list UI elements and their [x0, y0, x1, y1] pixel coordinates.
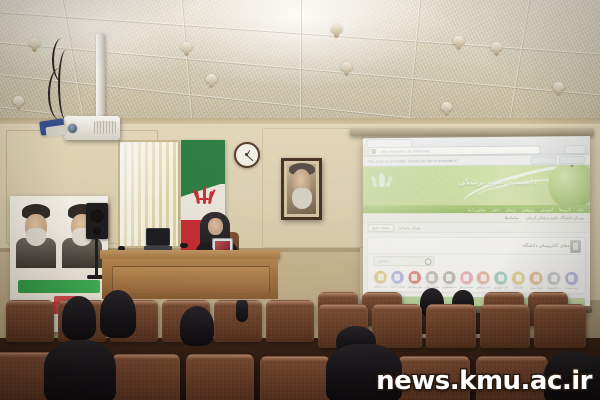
- system-icon-label: سامانه درمان: [459, 286, 474, 290]
- seated-attendee: [44, 340, 116, 400]
- breadcrumb-pill[interactable]: سامانه جامع: [368, 223, 395, 231]
- pa-speaker: [86, 203, 108, 239]
- system-icon-label: سامانه آموزش: [494, 286, 509, 290]
- breadcrumb[interactable]: سامانه جامع پورتال سازمانی: [363, 223, 590, 233]
- site-brand-title: دانشگاه علوم پزشکی: [458, 176, 537, 187]
- system-icon-research[interactable]: سامانه پژوهش: [476, 271, 491, 289]
- watermark: news.kmu.ac.ir: [376, 366, 592, 396]
- framed-portrait: [281, 158, 322, 220]
- seated-attendee: [236, 300, 248, 322]
- site-main-nav[interactable]: خانه گروه‌ها آموزش پژوهش درمان اخبار تما…: [363, 205, 590, 213]
- system-icon-label: سامانه پژوهش: [476, 286, 491, 290]
- nav-item[interactable]: اخبار: [492, 207, 500, 212]
- nav-item[interactable]: پژوهش: [522, 207, 535, 212]
- browser-address-bar[interactable]: http://www.kmu.ac.ir/fa/home: [369, 145, 541, 155]
- speaker-desk: [100, 250, 280, 259]
- projector-vent: [94, 121, 116, 134]
- logo-caption: کرمان: [365, 182, 403, 187]
- projector-mount-pole: [96, 34, 105, 126]
- breadcrumb-label: پورتال سازمانی: [398, 225, 420, 229]
- seat: [426, 304, 476, 348]
- green-apple-hero: [548, 165, 590, 205]
- ceiling-downlight: [180, 42, 193, 57]
- ceiling-downlight: [490, 42, 503, 57]
- systems-panel: سامانه‌های الکترونیکی دانشگاه جستجو ... …: [367, 237, 586, 294]
- ceiling-downlight: [330, 24, 343, 39]
- projection-screen: http://www.kmu.ac.ir/fa/home This page i…: [363, 136, 590, 310]
- speaker-stand: [95, 239, 98, 277]
- seat: [6, 300, 54, 342]
- system-icon-label: اتوماسیون: [529, 286, 544, 290]
- translate-button[interactable]: [531, 156, 557, 164]
- seat: [266, 300, 314, 342]
- panel-search-row[interactable]: جستجو ...: [368, 254, 585, 268]
- seat: [260, 356, 330, 400]
- projector-cables: [46, 38, 92, 126]
- ceiling-downlight: [28, 38, 41, 53]
- address-bar-url: http://www.kmu.ac.ir/fa/home: [381, 147, 430, 154]
- ceiling-downlight: [440, 102, 453, 117]
- search-input[interactable]: جستجو ...: [373, 256, 434, 266]
- system-icon-finance[interactable]: سامانه مالی: [424, 271, 438, 289]
- nav-item[interactable]: گروه‌ها: [559, 207, 571, 212]
- system-icon-label: سامانه دانشجویی: [442, 285, 456, 289]
- system-icon-personnel[interactable]: سامانه پرسنلی: [373, 271, 387, 289]
- projector-lens: [67, 123, 78, 134]
- system-icon-search[interactable]: جستجو پیشرفته: [407, 271, 421, 289]
- nav-item[interactable]: آموزش: [540, 207, 553, 212]
- system-icon-label: جستجو پیشرفته: [407, 285, 421, 289]
- system-icon-label: کتابخانه: [511, 286, 526, 290]
- ceiling-projector: [64, 116, 120, 140]
- system-icon-label: سامانه پرسنلی: [373, 285, 387, 289]
- nav-item[interactable]: تماس با ما: [468, 207, 486, 212]
- system-icon-education[interactable]: سامانه آموزش: [494, 271, 509, 289]
- ceiling-downlight: [12, 96, 25, 111]
- ceiling-downlight: [452, 36, 465, 51]
- browser-options-button[interactable]: [564, 145, 586, 154]
- wall-clock: [234, 142, 260, 168]
- browser-chrome: http://www.kmu.ac.ir/fa/home: [363, 136, 590, 157]
- site-header: کرمان دانشگاه علوم پزشکی: [363, 165, 590, 205]
- system-icon-website[interactable]: وب سایت: [564, 272, 579, 290]
- cleric-portrait-left: [16, 204, 56, 266]
- document-icon: [570, 240, 581, 253]
- system-icon-treatment[interactable]: سامانه درمان: [459, 271, 474, 289]
- browser-window-buttons[interactable]: [564, 145, 586, 154]
- nope-button[interactable]: [559, 156, 585, 164]
- system-icon-email[interactable]: پست الکترونیک: [546, 272, 561, 290]
- site-sub-nav[interactable]: پورتال دانشگاه علوم پزشکی کرمان سامانه‌ه…: [363, 213, 590, 223]
- seated-attendee: [100, 290, 136, 338]
- seat: [534, 304, 586, 348]
- nav-item[interactable]: خانه: [577, 207, 584, 212]
- subnav-item[interactable]: سامانه‌ها: [505, 215, 519, 220]
- seat: [480, 304, 530, 348]
- system-icon-documents[interactable]: سامانه اسناد: [390, 271, 404, 289]
- search-icon[interactable]: [425, 258, 432, 265]
- lock-icon: [371, 149, 376, 154]
- system-icon-library[interactable]: کتابخانه: [511, 272, 526, 290]
- seat: [186, 354, 254, 400]
- ceiling-downlight: [205, 74, 218, 89]
- system-icon-label: پست الکترونیک: [546, 286, 561, 290]
- system-icon-automation[interactable]: اتوماسیون: [529, 272, 544, 290]
- translate-infobar-actions[interactable]: [531, 156, 585, 164]
- iran-flag-emblem: [194, 186, 214, 206]
- seat: [372, 304, 422, 348]
- microphone: [183, 232, 213, 252]
- banner-headline-fa: [18, 280, 100, 293]
- projection-screen-housing: [350, 128, 594, 136]
- search-placeholder: جستجو ...: [378, 257, 392, 265]
- ceiling-downlight: [340, 62, 353, 77]
- translate-infobar-text: This page is in Persian. Would you like …: [368, 158, 459, 164]
- system-icon-student[interactable]: سامانه دانشجویی: [442, 271, 456, 289]
- laptop: [146, 228, 170, 250]
- seated-attendee: [180, 306, 214, 346]
- system-icon-label: وب سایت: [564, 286, 579, 290]
- screenshot-root: http://www.kmu.ac.ir/fa/home This page i…: [0, 0, 600, 400]
- subnav-item[interactable]: پورتال دانشگاه علوم پزشکی کرمان: [526, 215, 584, 220]
- panel-header: سامانه‌های الکترونیکی دانشگاه: [368, 238, 585, 255]
- nav-item[interactable]: درمان: [506, 207, 516, 212]
- seat: [112, 354, 180, 400]
- ceiling-downlight: [552, 82, 565, 97]
- seated-attendee: [62, 296, 96, 340]
- system-icon-label: سامانه اسناد: [390, 285, 404, 289]
- system-icon-row[interactable]: وب سایت پست الکترونیک اتوماسیون کتابخانه…: [368, 267, 585, 293]
- desk-panel-inset: [112, 266, 270, 294]
